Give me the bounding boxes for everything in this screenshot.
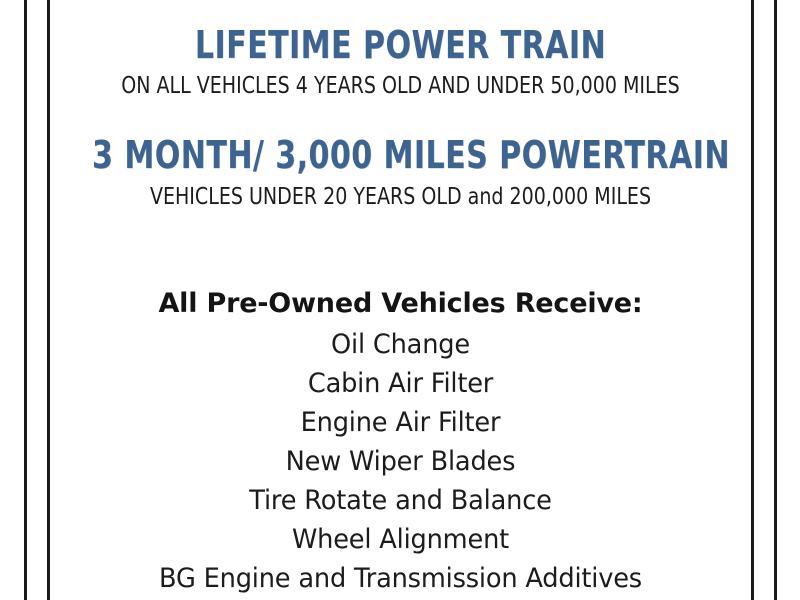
- border-rule-inner-right: [751, 0, 754, 600]
- list-item: Wheel Alignment: [68, 520, 734, 559]
- services-heading: All Pre-Owned Vehicles Receive:: [50, 289, 751, 319]
- border-rule-outer-right: [774, 0, 777, 600]
- list-item: BG Engine and Transmission Additives: [68, 559, 734, 598]
- services-section: All Pre-Owned Vehicles Receive: Oil Chan…: [50, 211, 751, 599]
- list-item: New Wiper Blades: [68, 442, 734, 481]
- list-item: Engine Air Filter: [68, 403, 734, 442]
- warranty-subline-lifetime: ON ALL VEHICLES 4 YEARS OLD AND UNDER 50…: [78, 66, 723, 99]
- warranty-subline-three-month: VEHICLES UNDER 20 YEARS OLD and 200,000 …: [78, 176, 723, 210]
- border-rule-outer-left: [24, 0, 27, 600]
- services-list: Oil Change Cabin Air Filter Engine Air F…: [50, 325, 751, 598]
- warranty-flyer: LIFETIME POWER TRAIN ON ALL VEHICLES 4 Y…: [0, 0, 800, 600]
- list-item: Tire Rotate and Balance: [68, 481, 734, 520]
- list-item: Oil Change: [68, 325, 734, 364]
- list-item: Cabin Air Filter: [68, 364, 734, 403]
- warranty-block-lifetime: LIFETIME POWER TRAIN ON ALL VEHICLES 4 Y…: [50, 0, 751, 99]
- warranty-headline-lifetime: LIFETIME POWER TRAIN: [92, 26, 709, 66]
- warranty-headline-three-month: 3 MONTH/ 3,000 MILES POWERTRAIN: [92, 136, 709, 176]
- warranty-block-three-month: 3 MONTH/ 3,000 MILES POWERTRAIN VEHICLES…: [50, 99, 751, 210]
- flyer-content: LIFETIME POWER TRAIN ON ALL VEHICLES 4 Y…: [50, 0, 751, 600]
